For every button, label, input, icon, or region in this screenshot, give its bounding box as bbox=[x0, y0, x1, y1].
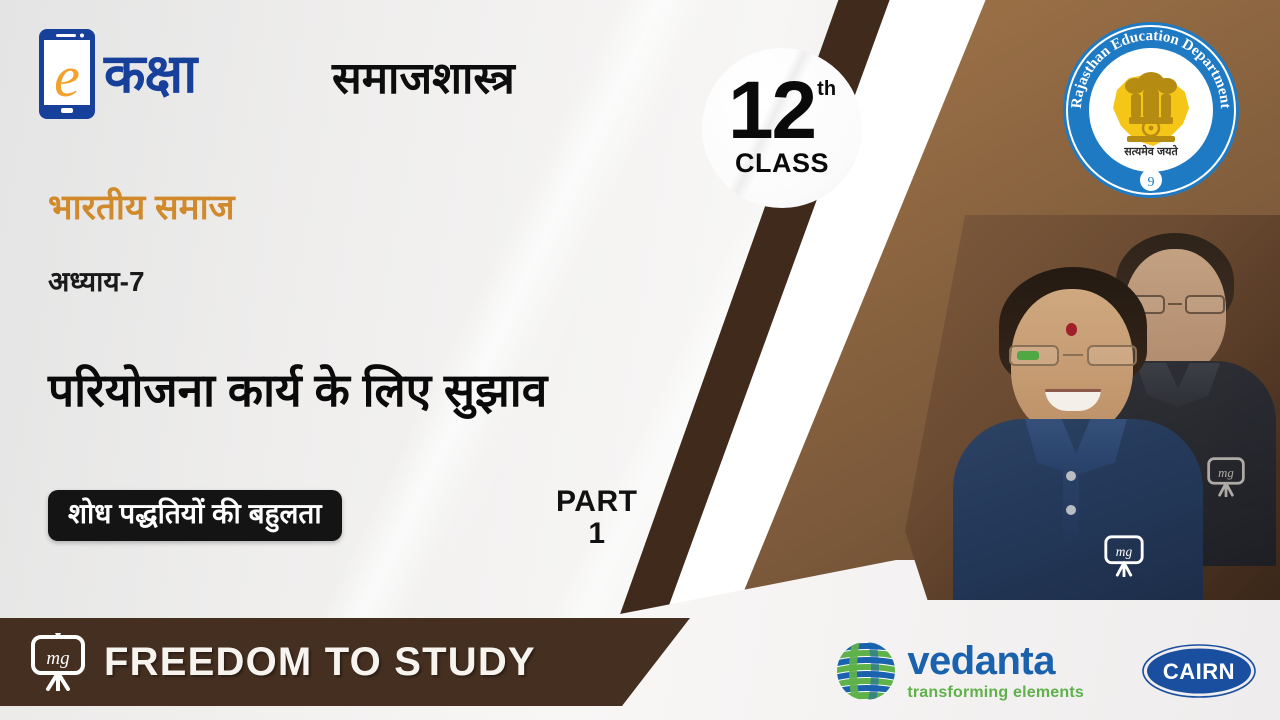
mg-monogram: mg bbox=[46, 648, 69, 669]
button bbox=[1066, 471, 1076, 481]
bindi bbox=[1066, 323, 1077, 336]
svg-text:mg: mg bbox=[1218, 466, 1234, 480]
part-indicator: PART 1 bbox=[556, 486, 637, 551]
female-teacher-figure: mg bbox=[953, 267, 1203, 600]
emblem-motto: सत्यमेव जयते bbox=[1123, 144, 1178, 158]
sponsor-logos: vedanta transforming elements CAIRN bbox=[835, 640, 1258, 702]
part-number: 1 bbox=[556, 518, 637, 550]
cairn-wordmark: CAIRN bbox=[1163, 659, 1235, 684]
page-title: परियोजना कार्य के लिए सुझाव bbox=[48, 358, 547, 420]
lens-glare bbox=[1017, 351, 1039, 360]
rajasthan-education-department-logo: सत्यमेव जयते Rajasthan Education Departm… bbox=[1057, 16, 1245, 204]
book-title: भारतीय समाज bbox=[48, 183, 235, 230]
cairn-logo: CAIRN bbox=[1140, 642, 1258, 700]
svg-text:mg: mg bbox=[1116, 544, 1133, 559]
vedanta-logo: vedanta transforming elements bbox=[835, 640, 1084, 702]
part-label: PART bbox=[556, 486, 637, 518]
ekaksha-logo: e कक्षा bbox=[38, 28, 196, 120]
mg-shirt-logo-icon: mg bbox=[1204, 455, 1248, 497]
footer-tagline: FREEDOM TO STUDY bbox=[104, 640, 536, 685]
vedanta-wordmark: vedanta bbox=[907, 641, 1084, 681]
class-ordinal: th bbox=[817, 81, 836, 97]
class-number: 12 bbox=[728, 77, 815, 144]
topic-badge-label: शोध पद्धतियों की बहुलता bbox=[68, 498, 322, 529]
mg-shirt-logo-icon: mg bbox=[1101, 533, 1147, 577]
mg-logo-icon: mg bbox=[28, 633, 90, 691]
logo-e-glyph: e bbox=[54, 44, 80, 109]
vedanta-globe-icon bbox=[835, 640, 897, 702]
class-badge: 12 th CLASS bbox=[702, 48, 862, 208]
slide-root: mg mg bbox=[0, 0, 1280, 720]
tablet-icon: e bbox=[38, 28, 96, 120]
chapter-label: अध्याय-7 bbox=[48, 262, 145, 300]
teacher-photo: mg mg bbox=[905, 215, 1280, 600]
ekaksha-wordmark: कक्षा bbox=[104, 47, 196, 101]
class-label: CLASS bbox=[735, 148, 829, 179]
subject-title: समाजशास्त्र bbox=[332, 46, 515, 106]
department-seal-glyph: 9 bbox=[1148, 175, 1155, 190]
topic-badge: शोध पद्धतियों की बहुलता bbox=[48, 490, 342, 541]
footer-bar: mg FREEDOM TO STUDY bbox=[0, 618, 690, 706]
button bbox=[1066, 505, 1076, 515]
vedanta-tagline: transforming elements bbox=[907, 685, 1084, 701]
